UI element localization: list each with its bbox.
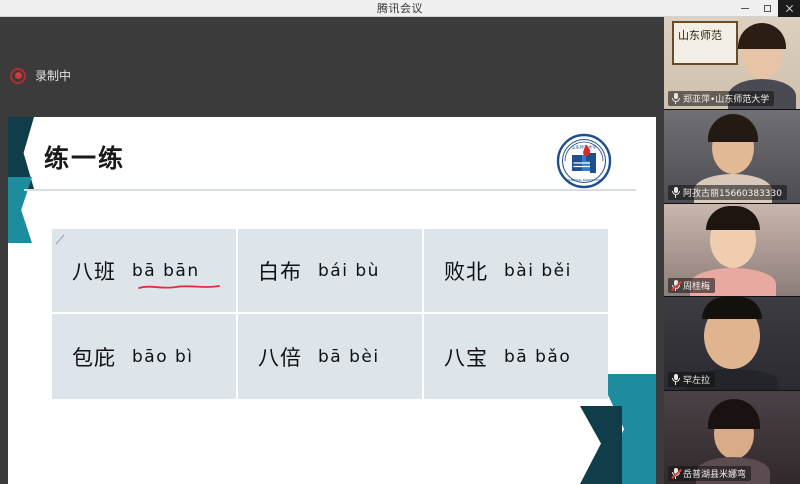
university-logo-icon: 山东师范大学 SHANDONG NORMAL UNIV (556, 133, 612, 189)
table-row: 八班 bā bān 白布 bái bù (52, 229, 608, 314)
recording-label: 录制中 (35, 67, 71, 84)
participant-video-sidebar[interactable]: 山东师范 郑亚萍•山东师范大学 阿孜古丽15660383330 (664, 17, 800, 484)
word-hanzi: 八宝 (444, 342, 488, 372)
vocabulary-table: 八班 bā bān 白布 bái bù (52, 229, 608, 399)
minimize-button[interactable] (734, 0, 756, 17)
microphone-muted-icon (671, 468, 680, 479)
participant-name-badge: 罕左拉 (668, 372, 715, 387)
microphone-muted-icon (671, 280, 680, 291)
word-hanzi: 败北 (444, 256, 488, 286)
slide-decoration-bottom-right-dark (580, 406, 622, 484)
pen-mark-icon (55, 233, 67, 245)
word-pinyin: bái bù (318, 261, 380, 281)
minimize-icon (741, 8, 749, 9)
record-dot-icon (10, 68, 26, 84)
word-pinyin: bā bǎo (504, 347, 571, 367)
participant-name: 郑亚萍•山东师范大学 (683, 92, 769, 105)
microphone-icon (671, 187, 680, 198)
participant-name: 岳普湖县米娜弯 (683, 467, 746, 480)
word-hanzi: 包庇 (72, 342, 116, 372)
close-button[interactable] (778, 0, 800, 17)
participant-video-tile[interactable]: 罕左拉 (664, 297, 800, 390)
participant-name: 周桂梅 (683, 279, 710, 292)
word-hanzi: 八倍 (258, 342, 302, 372)
participant-name-badge: 郑亚萍•山东师范大学 (668, 91, 774, 106)
svg-text:SHANDONG NORMAL UNIV: SHANDONG NORMAL UNIV (565, 178, 604, 182)
word-pinyin: bài běi (504, 261, 572, 281)
word-pinyin: bāo bì (132, 347, 194, 367)
maximize-button[interactable] (756, 0, 778, 17)
close-icon (785, 4, 794, 13)
table-cell[interactable]: 八宝 bā bǎo (424, 314, 608, 399)
participant-video-tile[interactable]: 阿孜古丽15660383330 (664, 110, 800, 203)
maximize-icon (764, 5, 771, 12)
word-pinyin: bā bān (132, 261, 200, 281)
microphone-icon (671, 93, 680, 104)
participant-video-tile[interactable]: 山东师范 郑亚萍•山东师范大学 (664, 17, 800, 110)
table-row: 包庇 bāo bì 八倍 bā bèi 八宝 bā bǎo (52, 314, 608, 399)
window-controls (734, 0, 800, 17)
participant-name: 罕左拉 (683, 373, 710, 386)
word-hanzi: 八班 (72, 256, 116, 286)
participant-name-badge: 阿孜古丽15660383330 (668, 185, 787, 200)
slide-decoration-left-teal (8, 177, 32, 243)
slide-title-divider (24, 189, 636, 191)
table-cell[interactable]: 包庇 bāo bì (52, 314, 238, 399)
participant-video-tile[interactable]: 岳普湖县米娜弯 (664, 391, 800, 484)
slide-title: 练一练 (44, 139, 125, 175)
word-hanzi: 白布 (258, 256, 302, 286)
participant-name-badge: 周桂梅 (668, 278, 715, 293)
window-title: 腾讯会议 (377, 0, 423, 16)
word-pinyin: bā bèi (318, 347, 380, 367)
participant-name: 阿孜古丽15660383330 (683, 186, 782, 199)
table-cell[interactable]: 八班 bā bān (52, 229, 238, 314)
window-title-bar: 腾讯会议 (0, 0, 800, 17)
microphone-icon (671, 374, 680, 385)
participant-name-badge: 岳普湖县米娜弯 (668, 466, 751, 481)
table-cell[interactable]: 败北 bài běi (424, 229, 608, 314)
participant-video-tile[interactable]: 周桂梅 (664, 204, 800, 297)
table-cell[interactable]: 白布 bái bù (238, 229, 424, 314)
recording-indicator: 录制中 (10, 67, 71, 84)
shared-screen-stage: 录制中 练一练 山东师范大学 SHANDONG NORMAL UNIV (0, 17, 664, 484)
table-cell[interactable]: 八倍 bā bèi (238, 314, 424, 399)
presentation-slide: 练一练 山东师范大学 SHANDONG NORMAL UNIV (8, 117, 656, 484)
